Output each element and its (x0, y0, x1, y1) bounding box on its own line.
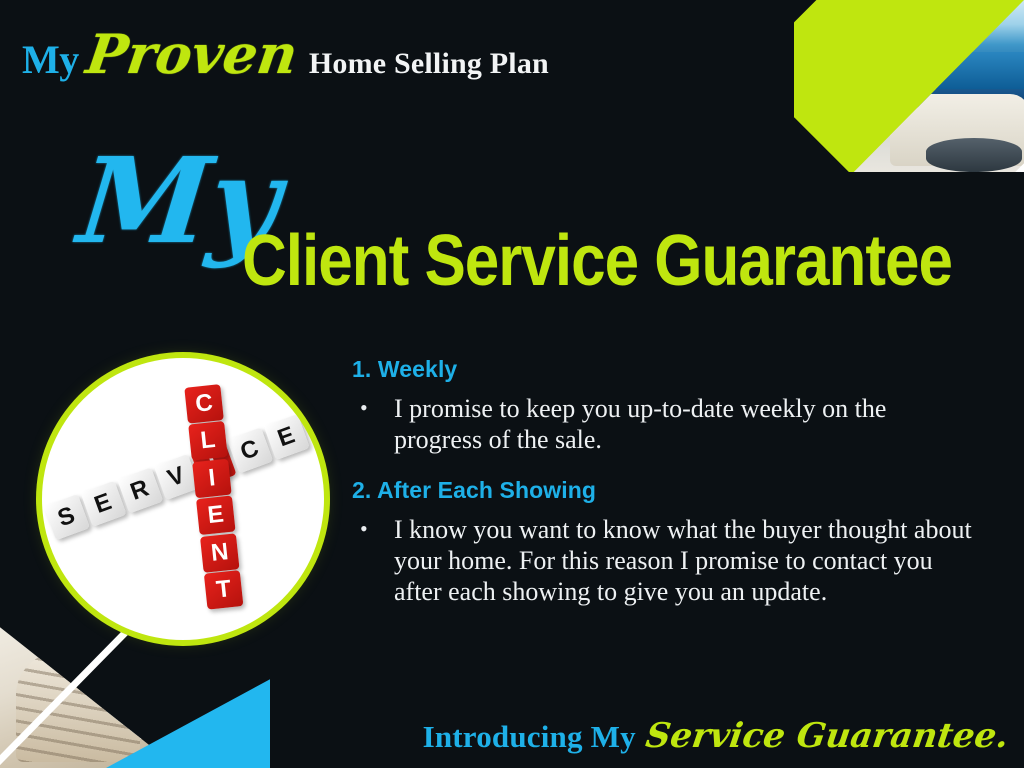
white-diagonal-stripe (794, 0, 1024, 172)
service-client-image: S E R V I C E C L I E N T (42, 358, 324, 640)
block-letter: E (196, 495, 236, 535)
slide-footer: Introducing My Service Guarantee. (423, 716, 1008, 756)
bullet-icon: • (352, 393, 394, 455)
brand-my-text: My (22, 36, 79, 83)
title-main-text: Client Service Guarantee (242, 226, 952, 298)
guarantee-list: 1. Weekly • I promise to keep you up-to-… (352, 356, 972, 611)
block-letter: N (200, 533, 240, 573)
block-letter: L (188, 421, 228, 461)
service-word-row: S E R V I C E (42, 412, 311, 542)
list-item: • I know you want to know what the buyer… (352, 514, 972, 607)
list-heading-1: 1. Weekly (352, 356, 972, 383)
page-title: My Client Service Guarantee (72, 150, 952, 320)
list-item: • I promise to keep you up-to-date weekl… (352, 393, 972, 455)
list-heading-2: 2. After Each Showing (352, 477, 972, 504)
client-word-column: C L I E N T (184, 382, 243, 611)
brand-header: My Proven Home Selling Plan (22, 22, 549, 86)
top-right-corner-decoration (794, 0, 1024, 172)
crossword-blocks: S E R V I C E C L I E N T (42, 358, 324, 640)
brand-proven-script: Proven (82, 22, 301, 86)
list-item-text-2: I know you want to know what the buyer t… (394, 514, 972, 607)
block-letter: I (192, 458, 232, 498)
bullet-icon: • (352, 514, 394, 607)
block-letter: T (204, 570, 244, 610)
footer-intro-text: Introducing My (423, 719, 636, 755)
slide-canvas: My Proven Home Selling Plan My Client Se… (0, 0, 1024, 768)
brand-plan-text: Home Selling Plan (309, 47, 549, 81)
footer-script-text: Service Guarantee. (643, 716, 1011, 756)
block-letter: C (184, 384, 224, 424)
list-item-text-1: I promise to keep you up-to-date weekly … (394, 393, 972, 455)
